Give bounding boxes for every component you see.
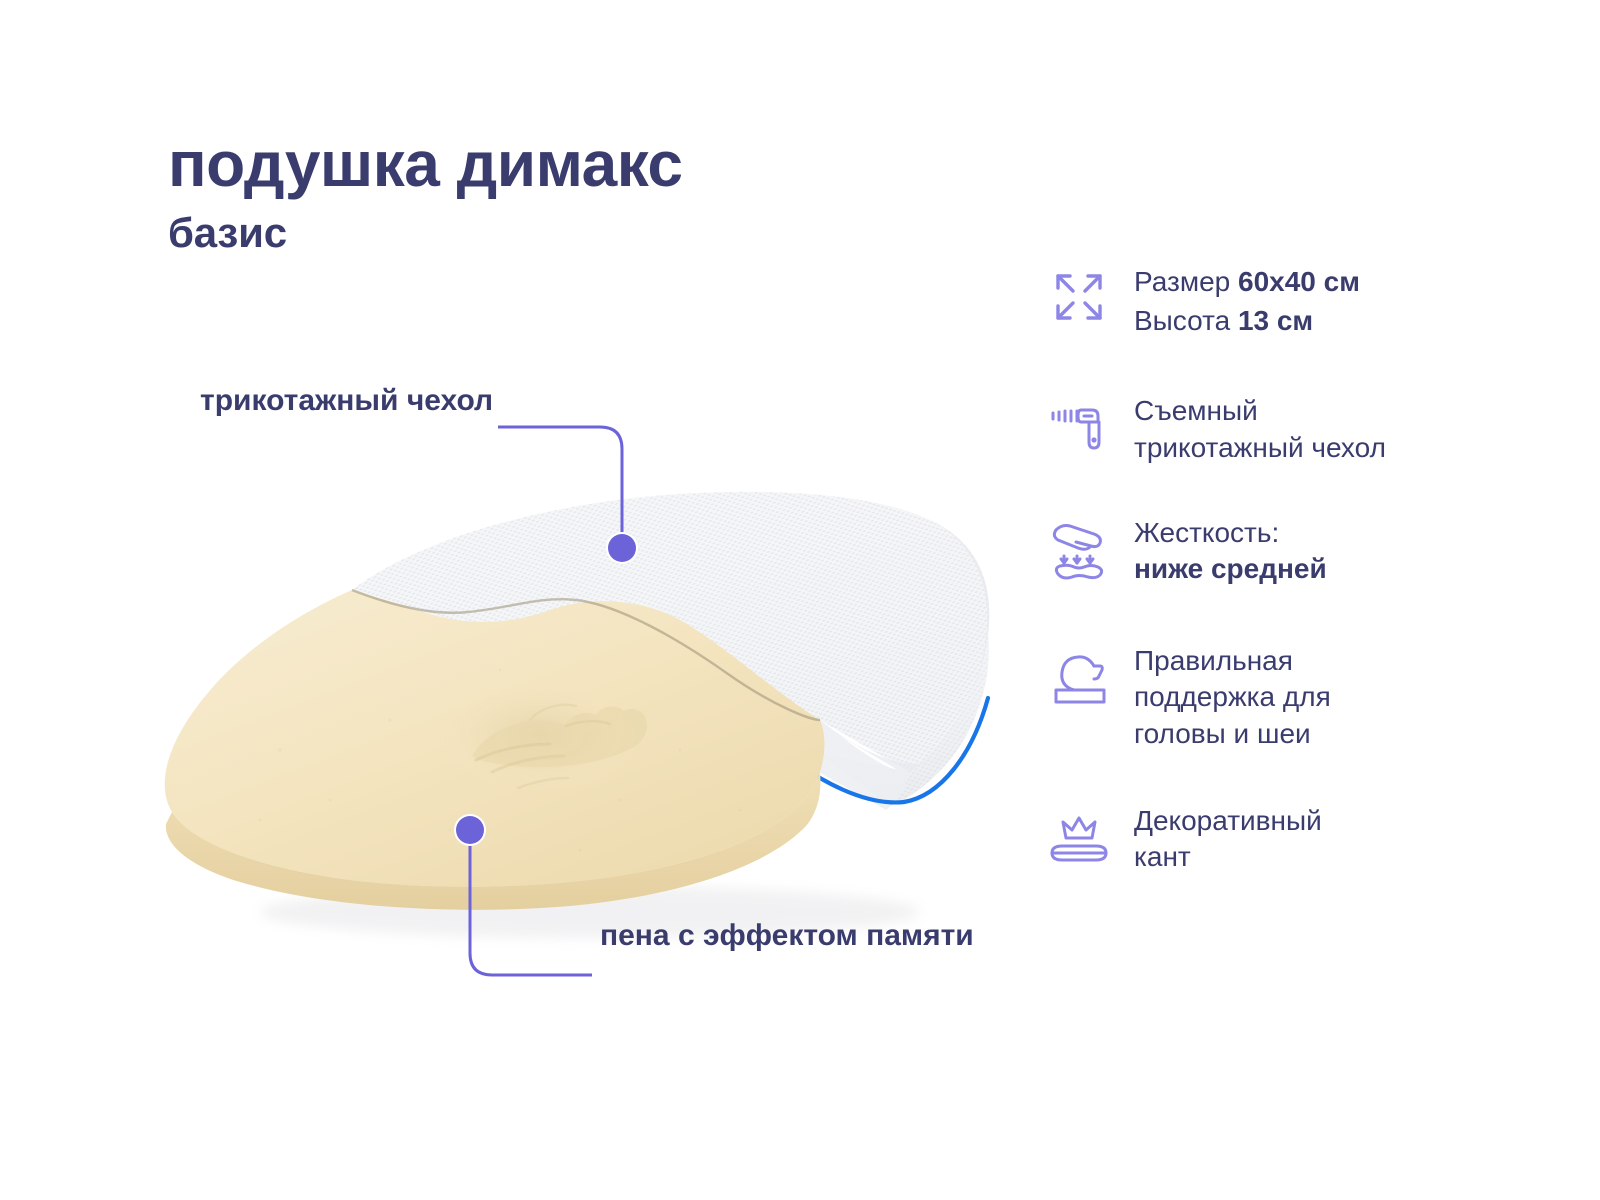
support-line-1: Правильная (1134, 643, 1331, 679)
expand-arrows-icon (1048, 262, 1134, 328)
piping-line-1: Декоративный (1134, 803, 1322, 839)
feature-firmness-text: Жесткость: ниже средней (1134, 514, 1327, 588)
zipper-icon (1048, 392, 1134, 458)
feature-decorative-piping-text: Декоративный кант (1134, 802, 1322, 876)
support-line-3: головы и шеи (1134, 716, 1331, 752)
feature-removable-cover-text: Съемный трикотажный чехол (1134, 392, 1386, 466)
piping-line-2: кант (1134, 839, 1322, 875)
feature-decorative-piping: Декоративный кант (1048, 802, 1518, 876)
firmness-label: Жесткость: (1134, 515, 1327, 551)
feature-removable-cover: Съемный трикотажный чехол (1048, 392, 1518, 466)
hand-press-pillow-icon (1048, 514, 1134, 580)
feature-dimensions-text: Размер 60x40 см Высота 13 см (1134, 262, 1360, 340)
page-subtitle: базис (168, 212, 683, 254)
feature-head-neck-support: Правильная поддержка для головы и шеи (1048, 642, 1518, 752)
feature-head-neck-support-text: Правильная поддержка для головы и шеи (1134, 642, 1331, 752)
support-line-2: поддержка для (1134, 679, 1331, 715)
firmness-value: ниже средней (1134, 553, 1327, 584)
title-block: подушка димакс базис (168, 132, 683, 254)
page-title: подушка димакс (168, 132, 683, 196)
cover-line-2: трикотажный чехол (1134, 430, 1386, 466)
callout-label-memory-foam: пена с эффектом памяти (600, 917, 1000, 955)
pillow-illustration (120, 420, 1080, 960)
head-on-pillow-icon (1048, 642, 1134, 708)
feature-dimensions: Размер 60x40 см Высота 13 см (1048, 262, 1518, 340)
callout-label-knit-cover: трикотажный чехол (200, 382, 530, 420)
size-label: Размер (1134, 266, 1238, 297)
feature-firmness: Жесткость: ниже средней (1048, 514, 1518, 588)
height-value: 13 см (1238, 305, 1313, 336)
crown-pillow-icon (1048, 802, 1134, 868)
infographic-canvas: подушка димакс базис (0, 0, 1600, 1200)
height-label: Высота (1134, 305, 1238, 336)
size-value: 60x40 см (1238, 266, 1360, 297)
cover-line-1: Съемный (1134, 393, 1386, 429)
feature-list: Размер 60x40 см Высота 13 см Съемный (1048, 262, 1518, 876)
